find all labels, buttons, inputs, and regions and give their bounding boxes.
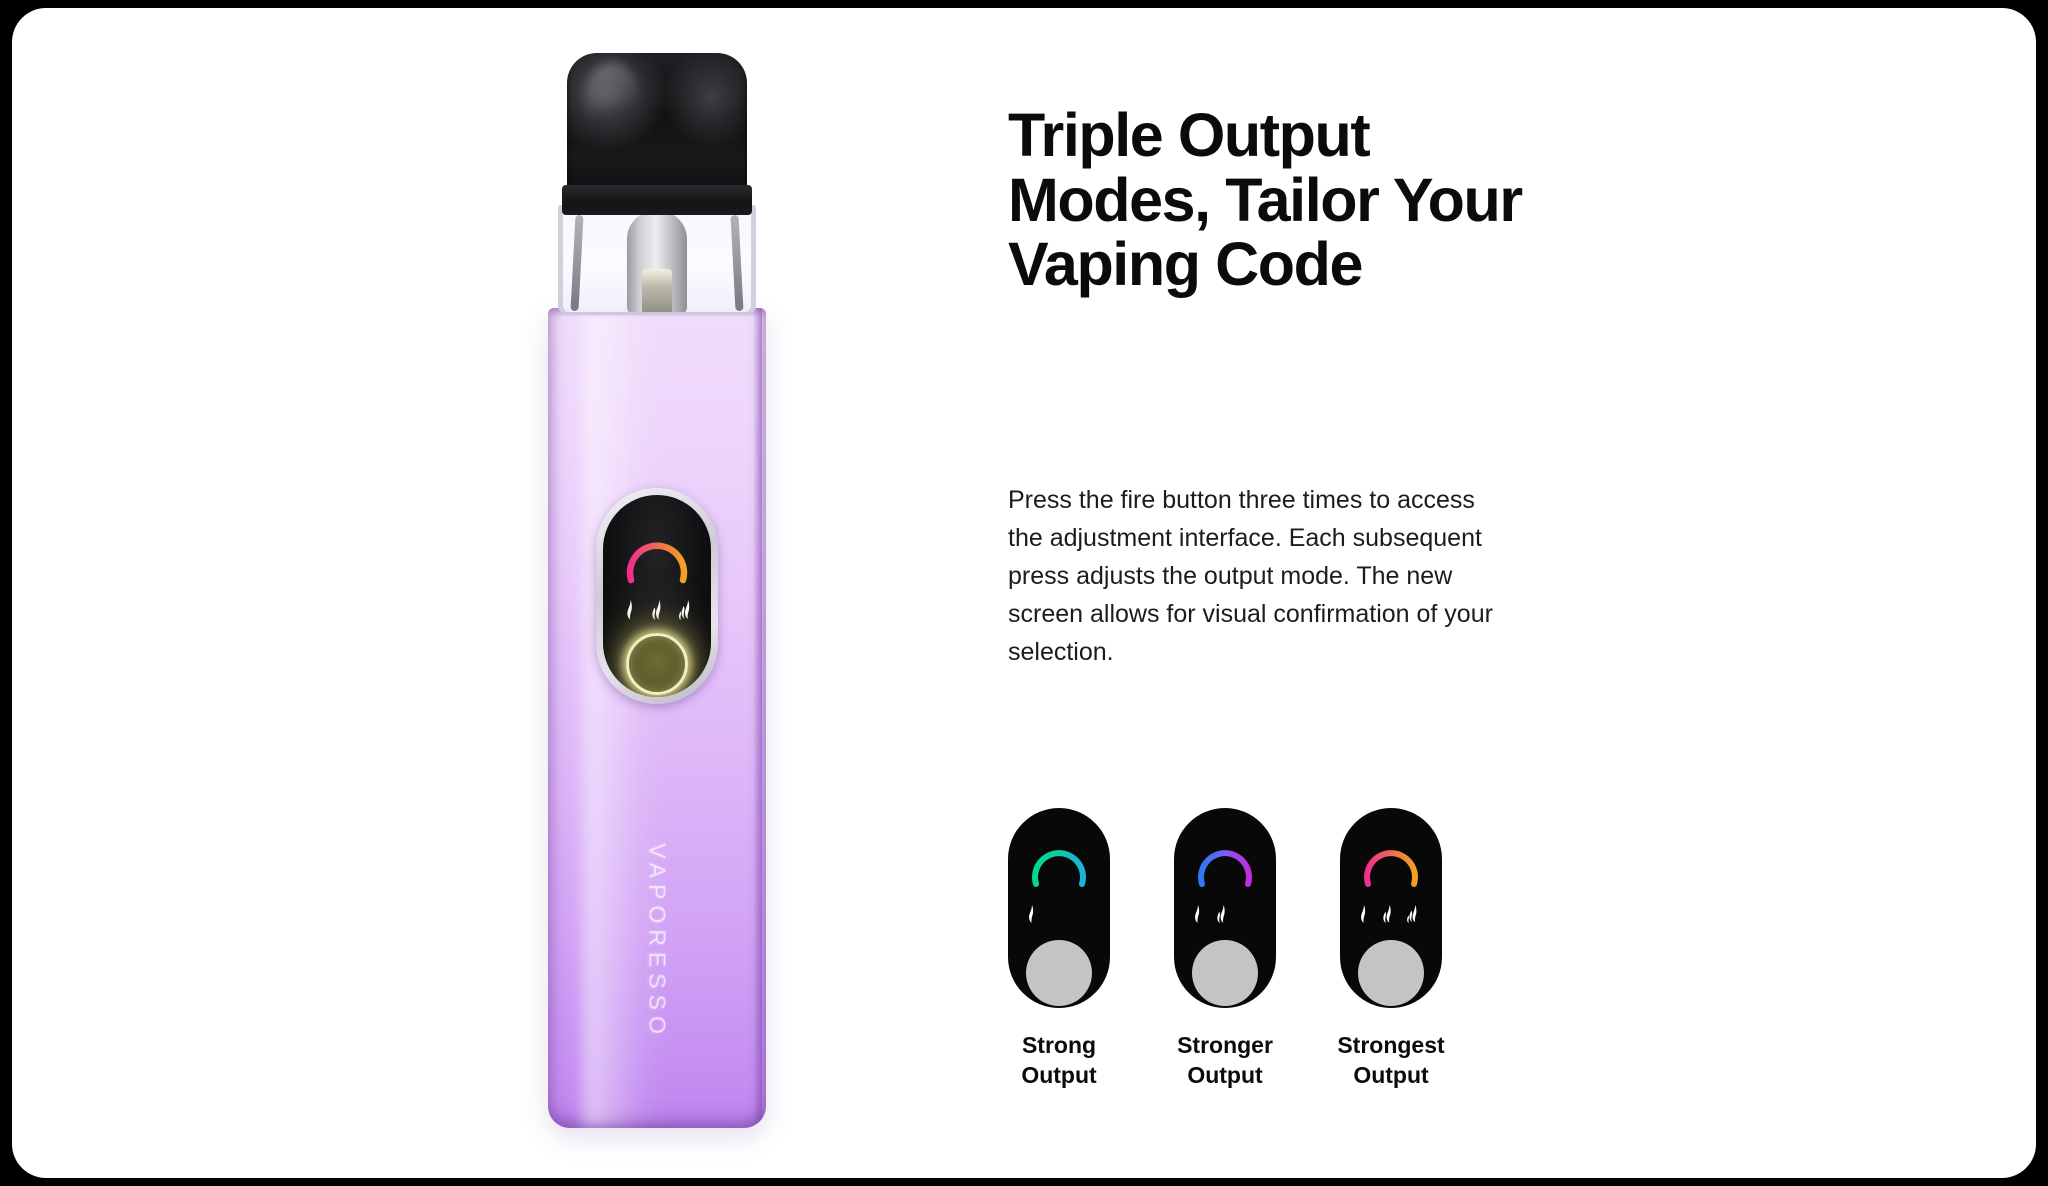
pod-collar xyxy=(562,185,752,215)
device-body: VAPORESSO xyxy=(548,308,766,1128)
output-mode-list: Strong Output xyxy=(1008,808,1478,1091)
mode-screen-preview-strong xyxy=(1008,808,1110,1008)
page-title: Triple Output Modes, Tailor Your Vaping … xyxy=(1008,103,1528,297)
device-screen xyxy=(603,495,711,697)
flame-icon-1 xyxy=(1190,904,1204,924)
mode-screen-preview-strongest xyxy=(1340,808,1442,1008)
flame-icon-2 xyxy=(650,599,665,621)
copy-column: Triple Output Modes, Tailor Your Vaping … xyxy=(996,8,2036,1178)
product-image-stage: VAPORESSO xyxy=(12,8,992,1178)
pod-mouthpiece xyxy=(567,53,747,203)
fire-button-indicator xyxy=(1026,940,1092,1006)
vape-device: VAPORESSO xyxy=(548,53,766,1128)
fire-button-indicator xyxy=(1192,940,1258,1006)
flame-indicator-group xyxy=(1190,904,1229,924)
mode-label: Strong Output xyxy=(1021,1030,1096,1091)
flame-icon-3 xyxy=(678,599,693,621)
flame-indicator-group xyxy=(1024,904,1038,924)
flame-icon-2 xyxy=(1215,904,1229,924)
flame-indicator-group xyxy=(1356,904,1420,924)
flame-icon-1 xyxy=(622,599,637,621)
flame-icon-1 xyxy=(1024,904,1038,924)
flame-indicator-group xyxy=(603,599,711,621)
mode-item-stronger[interactable]: Stronger Output xyxy=(1174,808,1276,1091)
mode-item-strong[interactable]: Strong Output xyxy=(1008,808,1110,1091)
flame-icon-3 xyxy=(1406,904,1420,924)
output-gauge-arc-icon xyxy=(1358,828,1424,894)
feature-card: VAPORESSO Triple Output Modes, Tailor Yo… xyxy=(12,8,2036,1178)
output-gauge-arc-icon xyxy=(1026,828,1092,894)
description-text: Press the fire button three times to acc… xyxy=(1008,481,1508,671)
output-gauge-arc-icon xyxy=(620,517,694,591)
tank-wick-right xyxy=(730,215,743,311)
mode-label: Stronger Output xyxy=(1177,1030,1273,1091)
pod-tank xyxy=(558,205,756,315)
output-gauge-arc-icon xyxy=(1192,828,1258,894)
flame-icon-2 xyxy=(1381,904,1395,924)
mode-label: Strongest Output xyxy=(1337,1030,1444,1091)
fire-button[interactable] xyxy=(626,633,688,695)
mode-screen-preview-stronger xyxy=(1174,808,1276,1008)
tank-chimney xyxy=(627,211,687,315)
fire-button-indicator xyxy=(1358,940,1424,1006)
tank-wick-left xyxy=(570,215,583,311)
mode-item-strongest[interactable]: Strongest Output xyxy=(1340,808,1442,1091)
brand-logo-text: VAPORESSO xyxy=(644,843,671,1040)
flame-icon-1 xyxy=(1356,904,1370,924)
screen-bezel xyxy=(596,488,718,704)
